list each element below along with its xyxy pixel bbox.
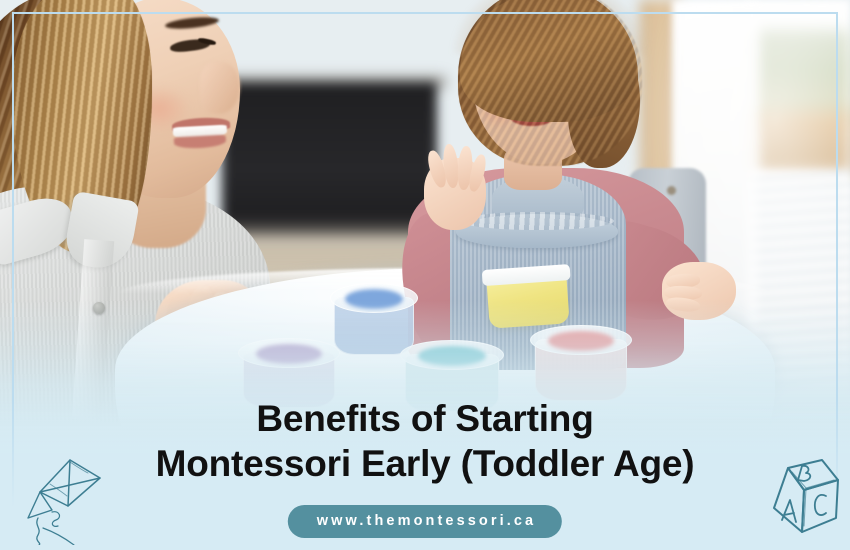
shirt-button [93, 302, 105, 314]
playdough-tub-yellow [486, 273, 569, 328]
title-line-2: Montessori Early (Toddler Age) [0, 441, 850, 486]
pinafore-ruffle-pleats [460, 212, 614, 230]
toddler-hair-texture [458, 0, 642, 166]
title-line-1: Benefits of Starting [0, 396, 850, 441]
website-url-badge[interactable]: www.themontessori.ca [288, 505, 562, 538]
playdough-tub-pink [535, 325, 627, 403]
playdough-tub-blue [334, 283, 414, 357]
page-title: Benefits of Starting Montessori Early (T… [0, 396, 850, 486]
article-header-banner: Benefits of Starting Montessori Early (T… [0, 0, 850, 550]
